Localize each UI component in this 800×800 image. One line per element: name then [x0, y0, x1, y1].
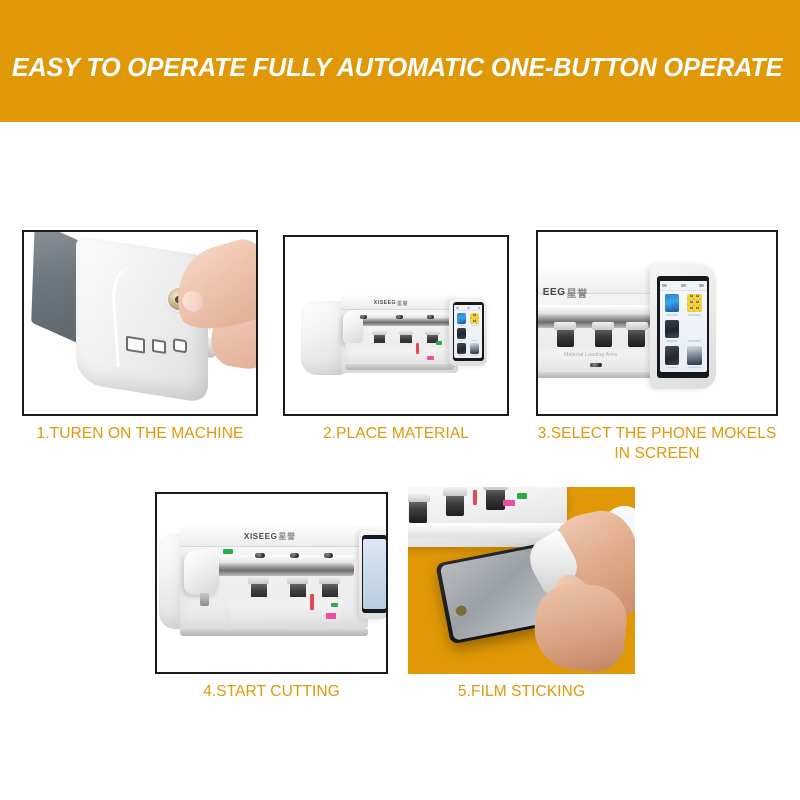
screen-item[interactable]: [684, 320, 704, 343]
step-5: 5.FILM STICKING: [408, 487, 635, 674]
machine-front-view-illustration: XISEEG星誉: [285, 237, 507, 414]
touchscreen[interactable]: [657, 276, 709, 378]
camera-thumb-icon: [665, 346, 680, 364]
brand-logo: EEG星誉: [543, 285, 588, 300]
touchscreen[interactable]: [453, 302, 484, 360]
step-2-photo: XISEEG星誉: [283, 235, 509, 416]
machine-cutting-illustration: XISEEG星誉: [157, 494, 386, 672]
step-3-photo: EEG星誉 Material Loading Area: [536, 230, 778, 416]
screen-item[interactable]: [662, 346, 682, 369]
brand-logo-text: XISEEG: [374, 300, 396, 306]
banner-title: EASY TO OPERATE FULLY AUTOMATIC ONE-BUTT…: [0, 54, 782, 83]
header-banner: EASY TO OPERATE FULLY AUTOMATIC ONE-BUTT…: [0, 0, 800, 122]
phone-thumb-icon: [457, 313, 466, 324]
watch-thumb-icon: [665, 320, 680, 338]
phone-thumb-icon: [665, 294, 680, 312]
brand-logo-text: EEG: [543, 287, 566, 298]
film-sticking-illustration: [408, 487, 635, 674]
brand-logo: XISEEG星誉: [244, 531, 296, 542]
brand-logo: XISEEG星誉: [374, 300, 408, 307]
step-2-caption: 2.PLACE MATERIAL: [283, 424, 509, 444]
blank-thumb-icon: [687, 320, 702, 338]
laptop-thumb-icon: [687, 346, 702, 364]
step-3-caption: 3.SELECT THE PHONE MOKELS IN SCREEN: [536, 424, 778, 464]
battery-icon: [699, 284, 704, 287]
pattern-thumb-icon: [470, 313, 479, 324]
step-3: EEG星誉 Material Loading Area: [536, 230, 778, 416]
step-1: 1.TUREN ON THE MACHINE: [22, 230, 258, 416]
ethernet-port-icon: [126, 336, 145, 353]
watch-thumb-icon: [457, 328, 466, 339]
camera-thumb-icon: [457, 343, 466, 354]
step-4: XISEEG星誉: [155, 492, 388, 674]
touchscreen[interactable]: [362, 535, 387, 613]
machine-side-view-illustration: [24, 232, 256, 414]
screen-item[interactable]: [662, 320, 682, 343]
step-5-photo: [408, 487, 635, 674]
pattern-thumb-icon: [687, 294, 702, 312]
blank-thumb-icon: [470, 328, 479, 339]
step-1-photo: [22, 230, 258, 416]
cutting-head: [184, 549, 218, 595]
screen-item[interactable]: [662, 294, 682, 317]
screen-item[interactable]: [469, 343, 481, 356]
power-port-icon: [172, 338, 187, 353]
laptop-thumb-icon: [470, 343, 479, 354]
step-4-photo: XISEEG星誉: [155, 492, 388, 674]
usb-port-icon: [152, 338, 166, 353]
wifi-icon: [681, 284, 686, 287]
step-1-caption: 1.TUREN ON THE MACHINE: [10, 424, 270, 444]
screen-item[interactable]: [456, 328, 468, 341]
machine-closeup-illustration: EEG星誉 Material Loading Area: [538, 232, 776, 414]
brand-logo-text: XISEEG: [244, 532, 277, 541]
battery-icon: [478, 307, 481, 309]
menu-icon: [456, 307, 459, 309]
step-4-caption: 4.START CUTTING: [155, 682, 388, 702]
promo-page: EASY TO OPERATE FULLY AUTOMATIC ONE-BUTT…: [0, 0, 800, 800]
step-2: XISEEG星誉: [283, 235, 509, 416]
screen-item[interactable]: [684, 346, 704, 369]
material-loading-area-label: Material Loading Area: [564, 352, 617, 358]
screen-item[interactable]: [469, 313, 481, 326]
screen-item[interactable]: [469, 328, 481, 341]
screen-item[interactable]: [456, 313, 468, 326]
screen-item[interactable]: [684, 294, 704, 317]
step-5-caption: 5.FILM STICKING: [408, 682, 635, 702]
screen-item[interactable]: [456, 343, 468, 356]
menu-icon: [662, 284, 667, 287]
wifi-icon: [467, 307, 470, 309]
steps-area: 1.TUREN ON THE MACHINE XISEEG星誉: [0, 122, 800, 800]
